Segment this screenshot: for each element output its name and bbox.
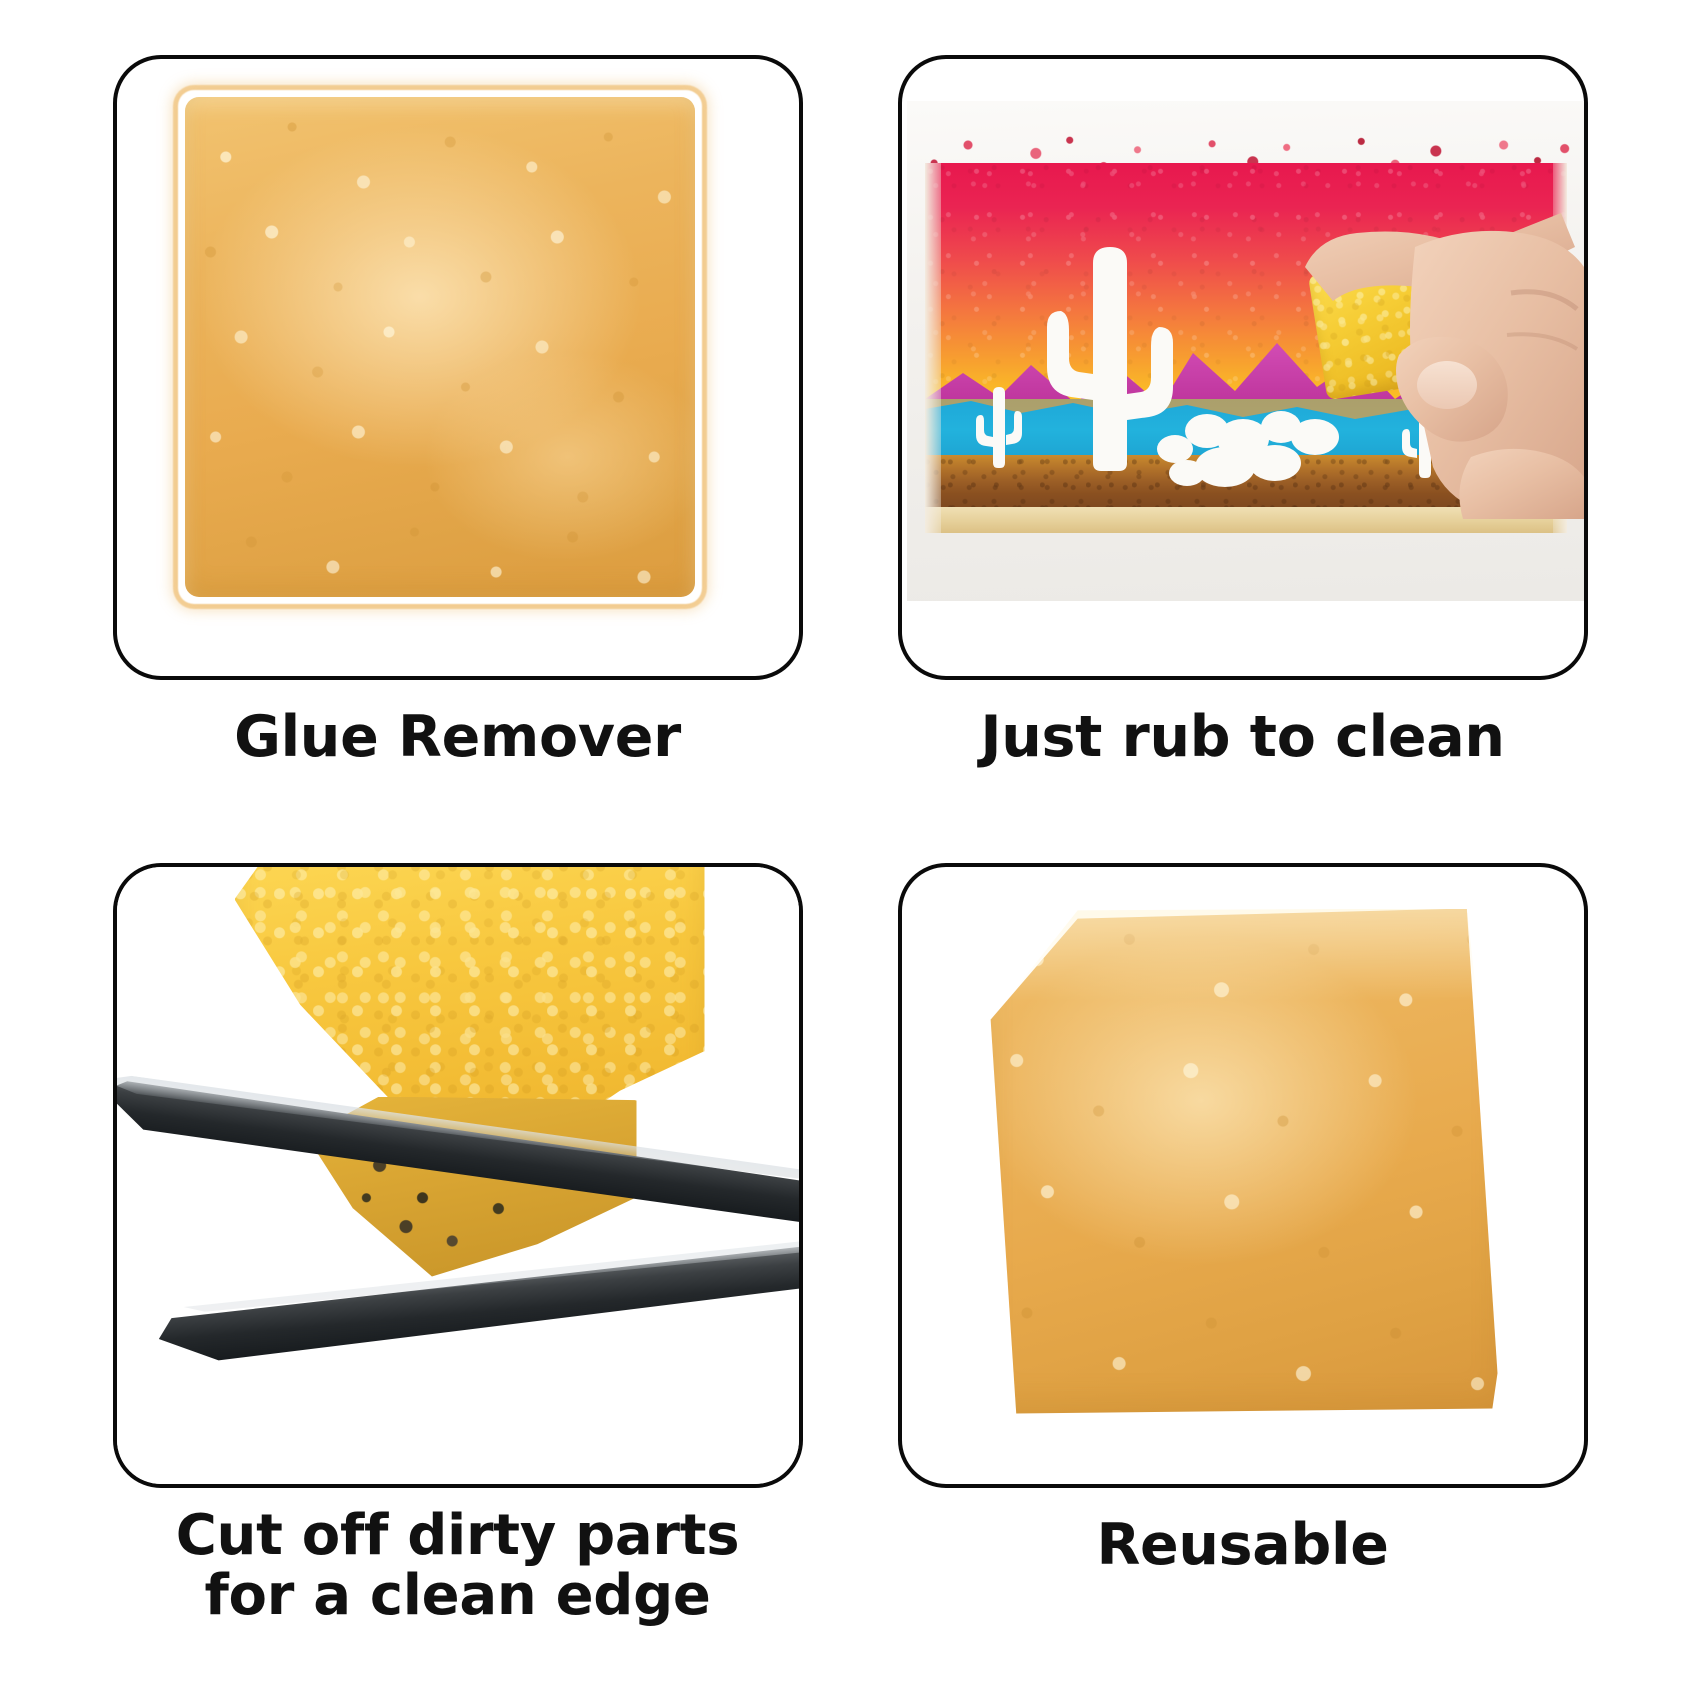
- panel-cut-off-dirty-parts[interactable]: [113, 863, 803, 1488]
- panel-glue-remover[interactable]: [113, 55, 803, 680]
- cell-just-rub-to-clean: Just rub to clean: [880, 55, 1605, 853]
- caption-reusable: Reusable: [1096, 1514, 1388, 1578]
- scissors-photo: [117, 867, 799, 1484]
- caption-just-rub-to-clean: Just rub to clean: [980, 706, 1504, 770]
- hand-holding-sponge: [1275, 189, 1584, 519]
- hand-shape: [1275, 189, 1584, 519]
- panel-reusable[interactable]: [898, 863, 1588, 1488]
- panel-glue-remover-image: [117, 59, 799, 676]
- cactus-icon-saguaro-main: [1047, 247, 1173, 471]
- cactus-icon-small-left: [976, 387, 1022, 468]
- cell-glue-remover: Glue Remover: [95, 55, 820, 853]
- sponge-texture: [185, 97, 695, 597]
- artwork-tape-left: [925, 163, 941, 533]
- cell-cut-off-dirty-parts: Cut off dirty parts for a clean edge: [95, 863, 820, 1661]
- caption-glue-remover: Glue Remover: [234, 706, 681, 770]
- panel-reusable-image: [902, 867, 1584, 1484]
- painting-photo: [907, 101, 1584, 601]
- panel-grid: Glue Remover: [0, 0, 1700, 1700]
- sponge-cube-top-face: [986, 909, 1498, 1001]
- cell-reusable: Reusable: [880, 863, 1605, 1661]
- panel-cut-off-image: [117, 867, 799, 1484]
- product-infographic: Glue Remover: [0, 0, 1700, 1700]
- sponge-flat-square: [185, 97, 695, 597]
- panel-just-rub-image: [902, 59, 1584, 676]
- panel-just-rub-to-clean[interactable]: [898, 55, 1588, 680]
- caption-cut-off-dirty-parts: Cut off dirty parts for a clean edge: [176, 1506, 740, 1627]
